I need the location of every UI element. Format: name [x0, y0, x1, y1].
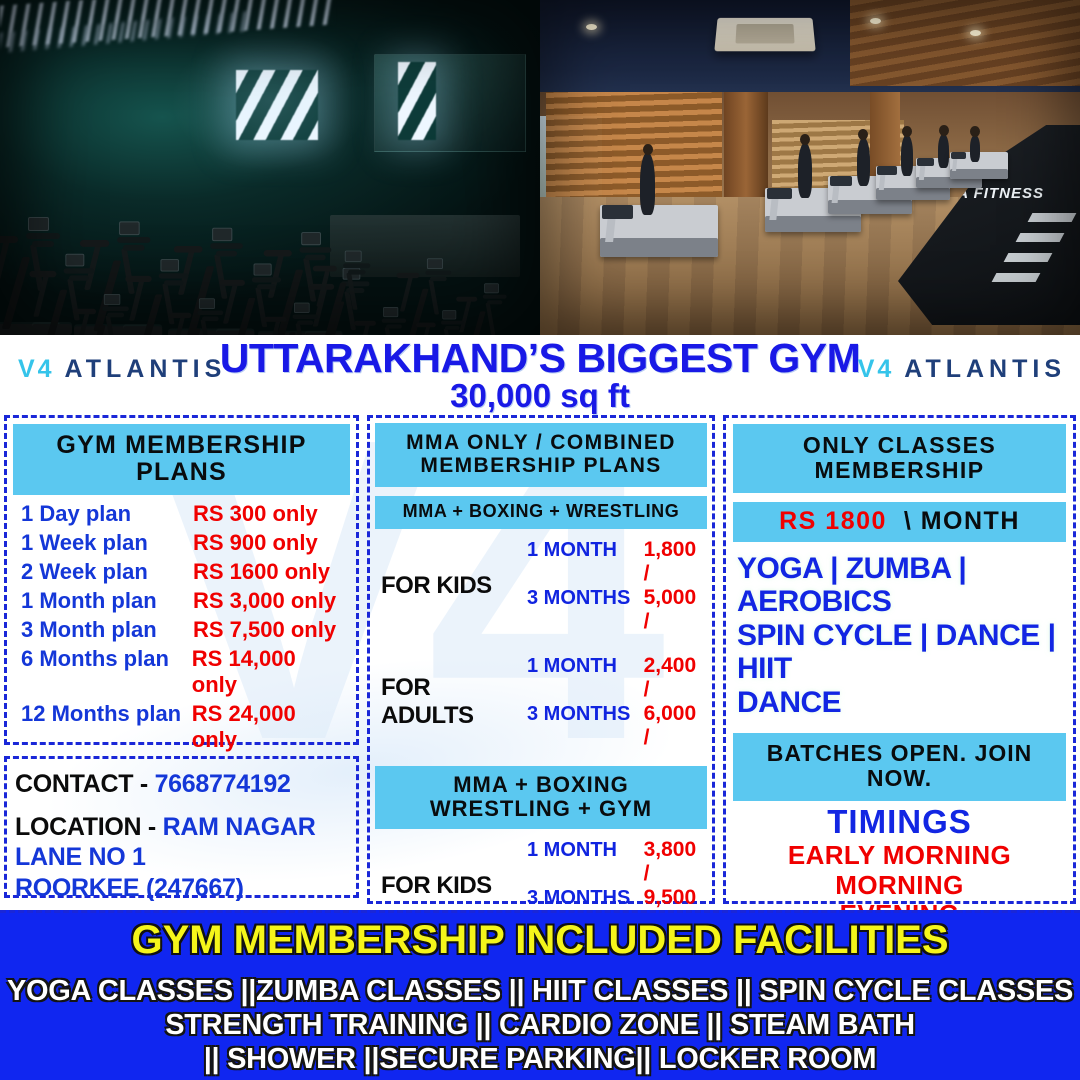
duration: 3 MONTHS: [527, 887, 644, 910]
gym-member: [901, 135, 913, 176]
amount: 3,800 /: [644, 838, 705, 886]
duration: 3 MONTHS: [527, 587, 644, 610]
downlight-icon: [970, 30, 981, 36]
gym-plans-column: GYM MEMBERSHIP PLANS 1 Day plan RS 300 o…: [4, 415, 359, 898]
plan-row: 1 Day plan RS 300 only: [21, 501, 346, 527]
plan-row: 1 Week plan RS 900 only: [21, 530, 346, 556]
facilities-footer: GYM MEMBERSHIP INCLUDED FACILITIES YOGA …: [0, 910, 1080, 1080]
phone-number[interactable]: 7668774192: [155, 770, 291, 798]
mma-section2-title-line1: MMA + BOXING: [377, 773, 705, 797]
downlight-icon: [870, 18, 881, 24]
address-line-2: ROORKEE (247667): [15, 873, 348, 904]
facilities-line: YOGA CLASSES ||ZUMBA CLASSES || HIIT CLA…: [0, 974, 1080, 1008]
brand-logo-right: V4 ATLANTIS: [858, 355, 1066, 384]
group-rows: 1 MONTH 2,400 / 3 MONTHS 6,000 /: [527, 654, 705, 750]
timing-slot: MORNING: [733, 871, 1066, 901]
gym-advertisement-poster: VIVA FITNESS V4 V4 ATLANTIS UTTARAKHAND’…: [0, 0, 1080, 1080]
classes-list: YOGA | ZUMBA | AEROBICS SPIN CYCLE | DAN…: [733, 542, 1066, 724]
amount: 1,800 /: [644, 538, 705, 586]
plan-row: 6 Months plan RS 14,000 only: [21, 646, 346, 698]
price-row: 1 MONTH 2,400 /: [527, 654, 705, 702]
plan-price: RS 14,000 only: [192, 646, 346, 698]
title-band: V4 ATLANTIS UTTARAKHAND’S BIGGEST GYM 30…: [0, 335, 1080, 415]
price-group: FOR KIDS 1 MONTH 1,800 / 3 MONTHS 5,000 …: [375, 529, 707, 636]
classes-column: ONLY CLASSES MEMBERSHIP RS 1800 \ MONTH …: [723, 415, 1076, 904]
brand-mark: V4: [18, 355, 55, 383]
facilities-heading: GYM MEMBERSHIP INCLUDED FACILITIES: [0, 918, 1080, 963]
price-group: FOR ADULTS 1 MONTH 2,400 / 3 MONTHS 6,00…: [375, 636, 707, 752]
classes-price-amount: RS 1800: [779, 507, 887, 535]
plan-name: 2 Week plan: [21, 559, 193, 585]
classes-list-line-3: DANCE: [737, 686, 1064, 720]
plan-price: RS 7,500 only: [193, 617, 336, 643]
gym-plans-list: 1 Day plan RS 300 only 1 Week plan RS 90…: [13, 495, 350, 753]
plan-columns: GYM MEMBERSHIP PLANS 1 Day plan RS 300 o…: [0, 415, 1080, 910]
classes-list-line-1: YOGA | ZUMBA | AEROBICS: [737, 552, 1064, 619]
group-label: FOR KIDS: [381, 872, 527, 900]
contact-card: CONTACT - 7668774192 LOCATION - RAM NAGA…: [4, 756, 359, 898]
group-label: FOR KIDS: [381, 572, 527, 600]
only-classes-card: ONLY CLASSES MEMBERSHIP RS 1800 \ MONTH …: [723, 415, 1076, 904]
plan-name: 1 Week plan: [21, 530, 193, 556]
gym-member: [798, 143, 812, 198]
classes-price-unit: \ MONTH: [904, 507, 1020, 535]
gym-plans-header: GYM MEMBERSHIP PLANS: [13, 424, 350, 495]
price-row: 1 MONTH 3,800 /: [527, 838, 705, 886]
mma-section2-title: MMA + BOXING WRESTLING + GYM: [375, 766, 707, 829]
plan-price: RS 3,000 only: [193, 588, 336, 614]
plan-name: 6 Months plan: [21, 646, 192, 672]
gym-member: [640, 153, 655, 215]
page-title: UTTARAKHAND’S BIGGEST GYM 30,000 sq ft: [190, 338, 890, 413]
gym-membership-plans-card: GYM MEMBERSHIP PLANS 1 Day plan RS 300 o…: [4, 415, 359, 745]
duration: 3 MONTHS: [527, 703, 644, 726]
duration: 1 MONTH: [527, 839, 644, 862]
price-row: 3 MONTHS 6,000 /: [527, 702, 705, 750]
batches-open-banner: BATCHES OPEN. JOIN NOW.: [733, 733, 1066, 802]
timings-title: TIMINGS: [733, 803, 1066, 841]
plan-price: RS 24,000 only: [192, 701, 346, 753]
plan-name: 12 Months plan: [21, 701, 192, 727]
location-label: LOCATION -: [15, 813, 163, 841]
plan-price: RS 300 only: [193, 501, 318, 527]
price-row: 3 MONTHS 5,000 /: [527, 586, 705, 634]
duration: 1 MONTH: [527, 539, 644, 562]
plan-row: 2 Week plan RS 1600 only: [21, 559, 346, 585]
treadmill: [600, 205, 718, 257]
amount: 2,400 /: [644, 654, 705, 702]
plan-price: RS 900 only: [193, 530, 318, 556]
plan-row: 3 Month plan RS 7,500 only: [21, 617, 346, 643]
location-line: LOCATION - RAM NAGAR LANE NO 1: [15, 812, 348, 873]
group-label: FOR ADULTS: [381, 674, 527, 730]
subheadline: 30,000 sq ft: [190, 379, 890, 414]
classes-header: ONLY CLASSES MEMBERSHIP: [733, 424, 1066, 493]
plan-name: 1 Day plan: [21, 501, 193, 527]
photo-strip: VIVA FITNESS: [0, 0, 1080, 335]
plan-name: 3 Month plan: [21, 617, 193, 643]
facilities-list: YOGA CLASSES ||ZUMBA CLASSES || HIIT CLA…: [0, 974, 1080, 1077]
mma-section2-title-line2: WRESTLING + GYM: [377, 797, 705, 821]
mma-section1-title: MMA + BOXING + WRESTLING: [375, 496, 707, 528]
downlight-icon: [586, 24, 597, 30]
plan-name: 1 Month plan: [21, 588, 193, 614]
contact-line: CONTACT - 7668774192: [15, 769, 348, 800]
price-row: 1 MONTH 1,800 /: [527, 538, 705, 586]
spin-cycle-studio-photo: [0, 0, 540, 335]
mma-plans-column: MMA ONLY / COMBINED MEMBERSHIP PLANS MMA…: [367, 415, 715, 904]
mma-membership-card: MMA ONLY / COMBINED MEMBERSHIP PLANS MMA…: [367, 415, 715, 904]
mma-header: MMA ONLY / COMBINED MEMBERSHIP PLANS: [375, 423, 707, 487]
contact-label: CONTACT -: [15, 770, 155, 798]
amount: 5,000 /: [644, 586, 705, 634]
plan-row: 12 Months plan RS 24,000 only: [21, 701, 346, 753]
gym-member: [938, 134, 949, 168]
group-rows: 1 MONTH 1,800 / 3 MONTHS 5,000 /: [527, 538, 705, 634]
facilities-line: || SHOWER ||SECURE PARKING|| LOCKER ROOM: [0, 1042, 1080, 1076]
brand-name: ATLANTIS: [904, 355, 1066, 383]
ceiling-ac-unit: [714, 18, 815, 51]
spin-bike-group: [0, 115, 540, 335]
classes-list-line-2: SPIN CYCLE | DANCE | HIIT: [737, 619, 1064, 686]
cardio-treadmill-zone-photo: VIVA FITNESS: [540, 0, 1080, 335]
gym-member: [970, 135, 980, 162]
headline: UTTARAKHAND’S BIGGEST GYM: [190, 338, 890, 380]
facilities-line: STRENGTH TRAINING || CARDIO ZONE || STEA…: [0, 1008, 1080, 1042]
gym-member: [857, 138, 870, 186]
classes-price-bar: RS 1800 \ MONTH: [733, 502, 1066, 542]
brand-mark: V4: [858, 355, 895, 383]
timing-slot: EARLY MORNING: [733, 841, 1066, 871]
plan-price: RS 1600 only: [193, 559, 330, 585]
amount: 6,000 /: [644, 702, 705, 750]
ceiling-wood-slats: [850, 0, 1080, 86]
duration: 1 MONTH: [527, 655, 644, 678]
plan-row: 1 Month plan RS 3,000 only: [21, 588, 346, 614]
